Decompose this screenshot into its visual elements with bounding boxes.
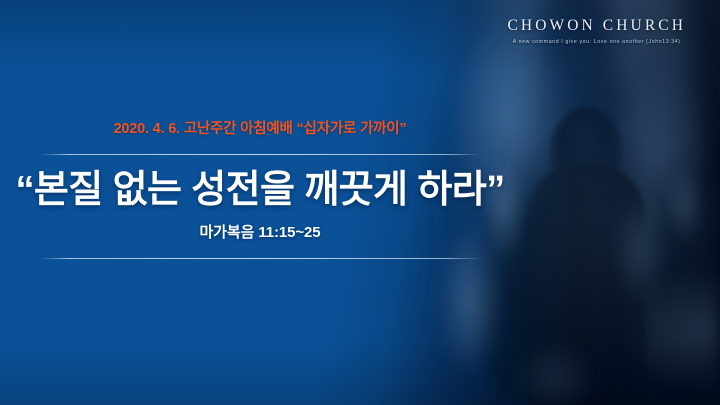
sermon-info-block: 2020. 4. 6. 고난주간 아침예배 “십자가로 가까이” “본질 없는 … [0, 122, 520, 259]
sermon-title: “본질 없는 성전을 깨끗게 하라” [0, 170, 520, 211]
sermon-title-slide: CHOWON CHURCH A new command I give you: … [0, 0, 720, 405]
sermon-date-service: 2020. 4. 6. 고난주간 아침예배 [114, 121, 297, 137]
robed-figure-silhouette [512, 112, 658, 405]
church-tagline: A new command I give you: Love one anoth… [507, 40, 686, 45]
church-brand: CHOWON CHURCH A new command I give you: … [507, 18, 686, 45]
divider-line-top [39, 154, 481, 155]
sermon-series-line: 2020. 4. 6. 고난주간 아침예배 “십자가로 가까이” [0, 122, 520, 137]
scripture-reference: 마가복음 11:15~25 [0, 225, 520, 240]
church-name: CHOWON CHURCH [507, 18, 686, 34]
figure-robe-fold [560, 182, 600, 405]
divider-line-bottom [39, 258, 481, 259]
sermon-series-topic: “십자가로 가까이” [297, 121, 407, 137]
